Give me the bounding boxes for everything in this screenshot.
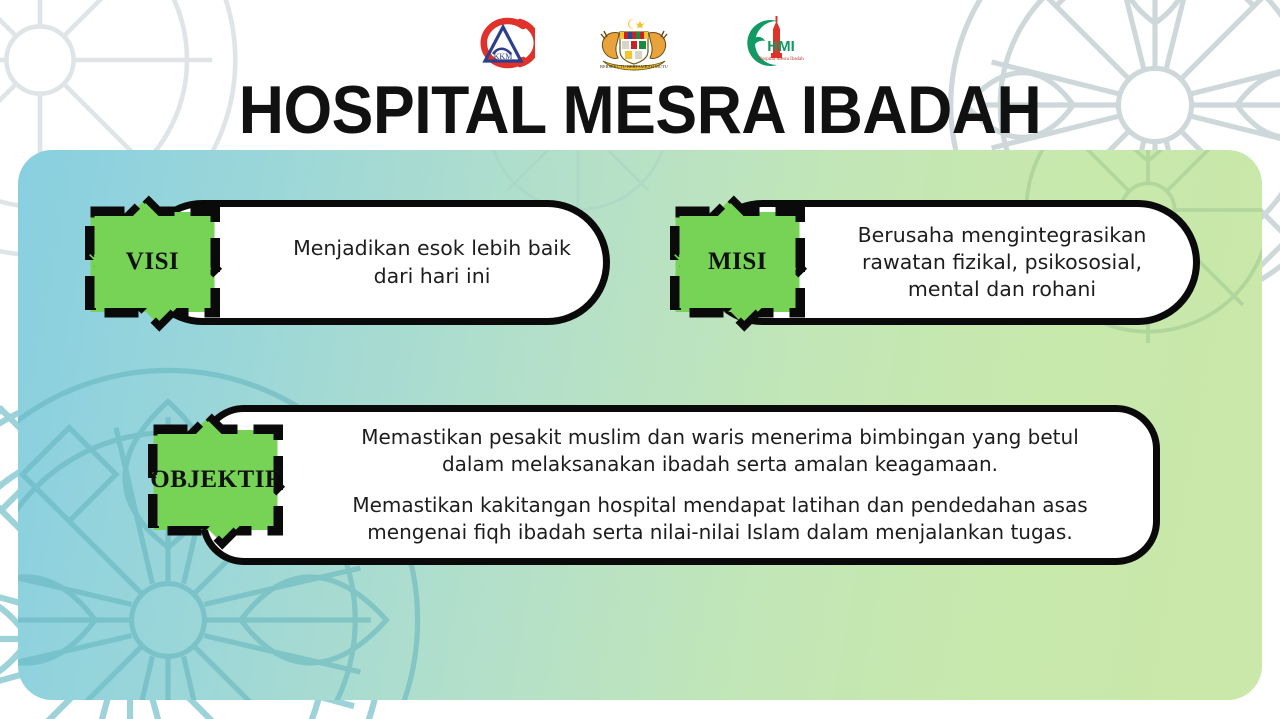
- svg-text:HMI: HMI: [767, 38, 795, 55]
- jata-negara-logo-icon: BERSEKUTU BERTAMBAH MUTU: [589, 15, 679, 71]
- objektif-text: Memastikan pesakit muslim dan waris mene…: [207, 424, 1153, 547]
- visi-badge-label: VISI: [45, 248, 260, 276]
- jata-negara-logo: BERSEKUTU BERTAMBAH MUTU: [589, 14, 679, 72]
- objektif-paragraph-2: Memastikan kakitangan hospital mendapat …: [327, 492, 1113, 546]
- objektif-card: Memastikan pesakit muslim dan waris mene…: [200, 405, 1160, 565]
- hmi-logo-icon: HMI Hospital Mesra Ibadah: [733, 15, 807, 71]
- logo-row: KKM BERSEKUTU BERTAMBAH: [0, 14, 1280, 72]
- page-title: HOSPITAL MESRA IBADAH: [51, 76, 1229, 144]
- svg-text:BERSEKUTU BERTAMBAH MUTU: BERSEKUTU BERTAMBAH MUTU: [600, 64, 669, 69]
- svg-text:KKM: KKM: [494, 52, 513, 61]
- objektif-badge: OBJEKTIF: [108, 400, 323, 560]
- visi-badge: VISI: [45, 182, 260, 342]
- objektif-paragraph-1: Memastikan pesakit muslim dan waris mene…: [327, 424, 1113, 478]
- misi-badge-label: MISI: [630, 248, 845, 276]
- kkm-logo-icon: KKM: [473, 14, 535, 72]
- svg-text:Hospital Mesra Ibadah: Hospital Mesra Ibadah: [758, 57, 804, 62]
- kkm-logo: KKM: [473, 14, 535, 72]
- hmi-logo: HMI Hospital Mesra Ibadah: [733, 14, 807, 72]
- objektif-badge-label: OBJEKTIF: [108, 466, 323, 494]
- misi-badge: MISI: [630, 182, 845, 342]
